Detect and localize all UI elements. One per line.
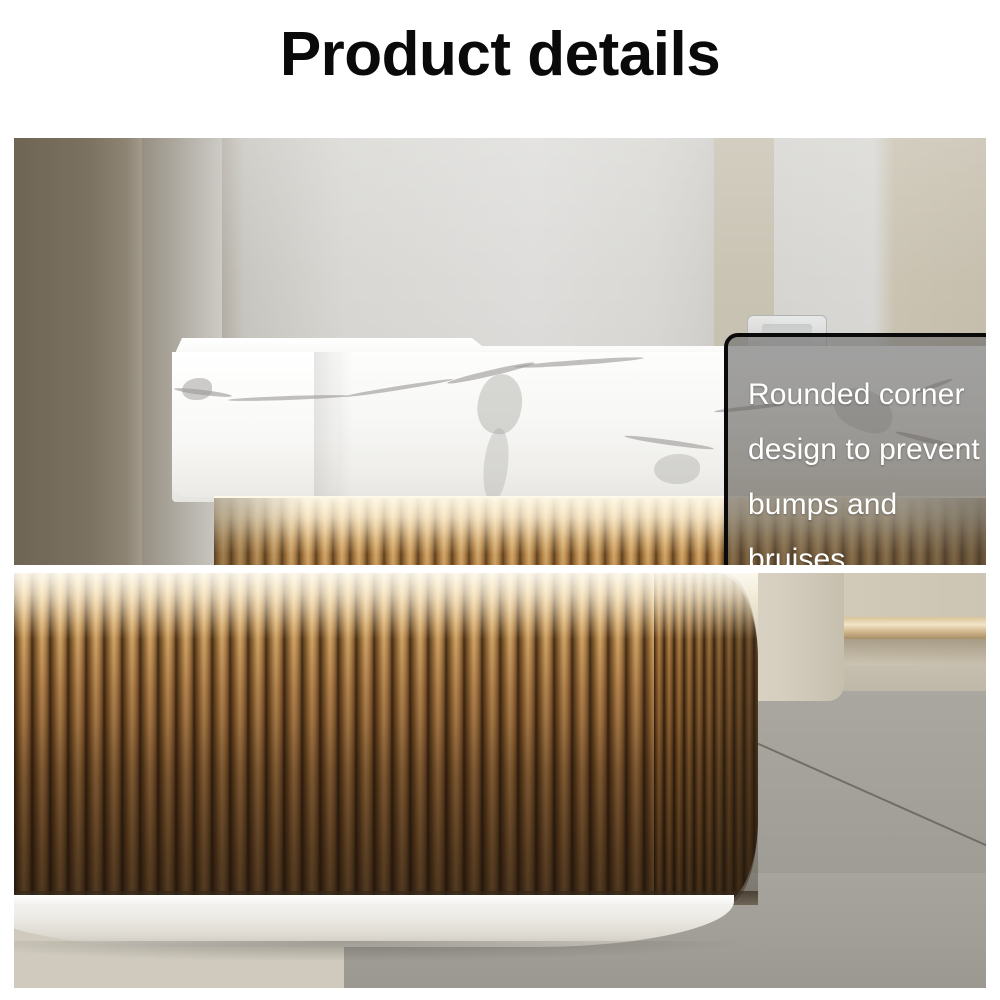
slat-left-shadow [214,498,304,565]
marble-vein [654,454,700,484]
callout-line: Rounded corner [748,367,978,422]
plinth-contact-shadow [14,941,744,961]
callout-line: design to prevent [748,422,978,477]
marble-counter-rounded-end [172,352,337,497]
led-backlight-glow [14,573,758,639]
product-photo-bottom[interactable]: Stylish and beautiful, wear resistant, s… [14,573,986,988]
marble-vein [182,378,212,400]
product-photo-top[interactable]: Rounded corner design to prevent bumps a… [14,138,986,565]
plinth-highlight [14,895,734,905]
page-title: Product details [0,22,1000,87]
left-wall-pillar [14,138,146,565]
callout-line: bumps and [748,477,978,532]
callout-line: bruises [748,532,978,565]
slat-ambient-shadow [14,723,758,905]
callout-rounded-corner: Rounded corner design to prevent bumps a… [724,333,986,565]
counter-end-shadow [314,352,352,502]
